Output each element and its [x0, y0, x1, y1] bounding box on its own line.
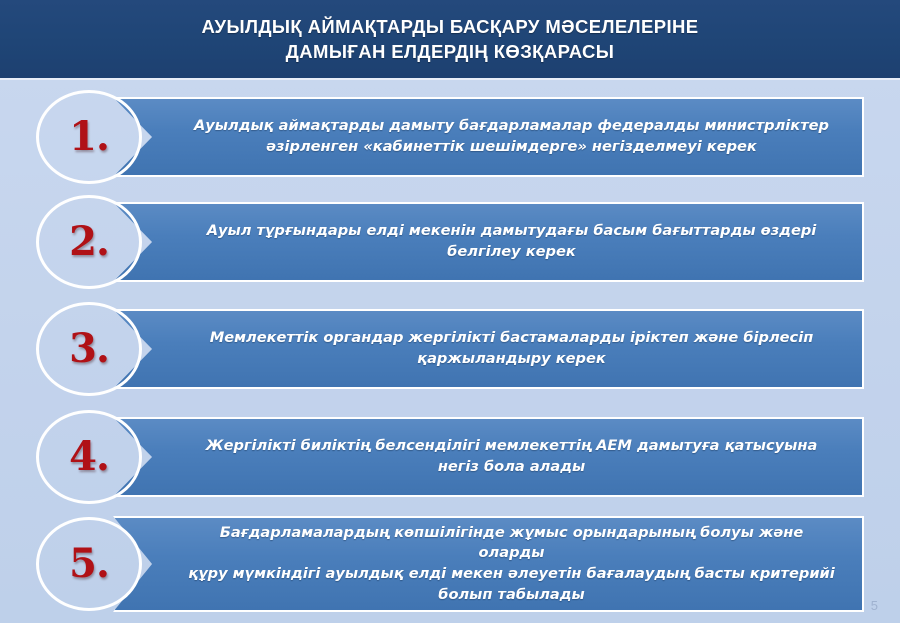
- item-number: 5.: [69, 544, 109, 584]
- item-number: 2.: [69, 222, 109, 262]
- slide-number: 5: [871, 598, 878, 613]
- slide-header: АУЫЛДЫҚ АЙМАҚТАРДЫ БАСҚАРУ МӘСЕЛЕЛЕРІНЕ …: [0, 0, 900, 80]
- header-title-line-2: ДАМЫҒАН ЕЛДЕРДІҢ КӨЗҚАРАСЫ: [286, 42, 615, 61]
- item-number-badge: 2.: [36, 195, 142, 289]
- item-number-badge: 3.: [36, 302, 142, 396]
- item-banner: Жергілікті биліктің белсенділігі мемлеке…: [113, 417, 864, 497]
- slide: АУЫЛДЫҚ АЙМАҚТАРДЫ БАСҚАРУ МӘСЕЛЕЛЕРІНЕ …: [0, 0, 900, 623]
- item-text: Ауыл тұрғындары елді мекенін дамытудағы …: [135, 221, 843, 262]
- item-number-badge: 1.: [36, 90, 142, 184]
- header-title-line-1: АУЫЛДЫҚ АЙМАҚТАРДЫ БАСҚАРУ МӘСЕЛЕЛЕРІНЕ: [201, 17, 698, 36]
- item-number: 3.: [69, 329, 109, 369]
- item-text: Бағдарламалардың көпшілігінде жұмыс орын…: [115, 523, 862, 606]
- item-number-badge: 5.: [36, 517, 142, 611]
- item-text: Мемлекеттік органдар жергілікті бастамал…: [138, 328, 840, 369]
- item-banner: Ауылдық аймақтарды дамыту бағдарламалар …: [113, 97, 864, 177]
- item-text: Ауылдық аймақтарды дамыту бағдарламалар …: [122, 116, 855, 157]
- item-banner: Мемлекеттік органдар жергілікті бастамал…: [113, 309, 864, 389]
- list-item: Мемлекеттік органдар жергілікті бастамал…: [36, 309, 864, 389]
- item-number-badge: 4.: [36, 410, 142, 504]
- item-number: 4.: [69, 437, 109, 477]
- item-number: 1.: [69, 117, 109, 157]
- list-item: Жергілікті биліктің белсенділігі мемлеке…: [36, 417, 864, 497]
- item-banner: Ауыл тұрғындары елді мекенін дамытудағы …: [113, 202, 864, 282]
- item-text: Жергілікті биліктің белсенділігі мемлеке…: [134, 436, 844, 477]
- list-item: Ауыл тұрғындары елді мекенін дамытудағы …: [36, 202, 864, 282]
- items-list: Ауылдық аймақтарды дамыту бағдарламалар …: [0, 84, 900, 623]
- list-item: Ауылдық аймақтарды дамыту бағдарламалар …: [36, 97, 864, 177]
- list-item: Бағдарламалардың көпшілігінде жұмыс орын…: [36, 516, 864, 612]
- item-banner: Бағдарламалардың көпшілігінде жұмыс орын…: [113, 516, 864, 612]
